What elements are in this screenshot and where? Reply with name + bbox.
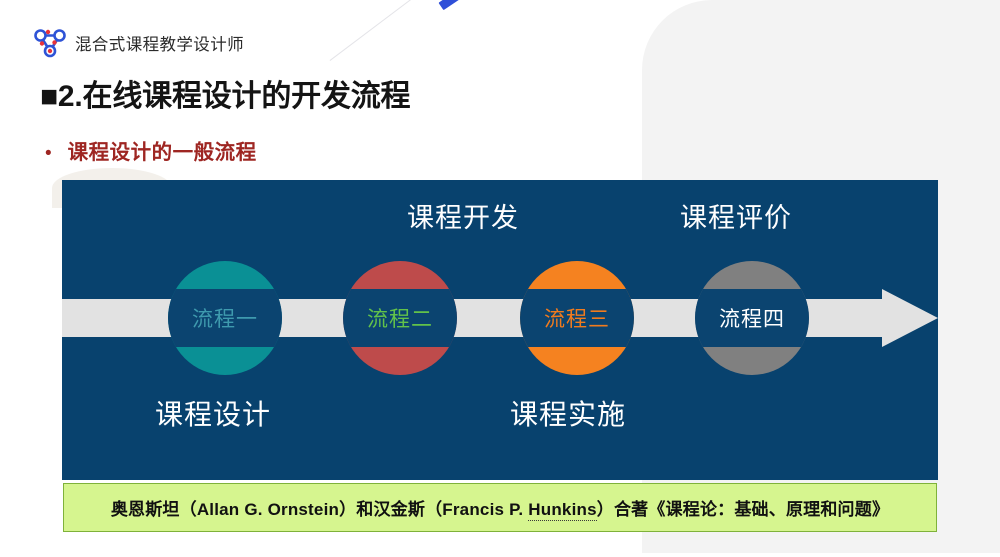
flow-node-circle[interactable]: 流程一 xyxy=(168,261,282,375)
subtitle-text: 课程设计的一般流程 xyxy=(68,135,257,165)
subtitle-bullet-line: • 课程设计的一般流程 xyxy=(45,135,257,165)
flow-node-circle[interactable]: 流程二 xyxy=(343,261,457,375)
citation-part-1: 奥恩斯坦（Allan G. Ornstein）和汉金斯（Francis P. xyxy=(111,500,528,519)
flow-node-label: 流程三 xyxy=(520,289,634,347)
diagram-bottom-label: 课程实施 xyxy=(510,393,626,433)
bullet-marker-icon: • xyxy=(45,144,52,163)
brand-name-label: 混合式课程教学设计师 xyxy=(75,31,244,55)
citation-part-2: ）合著《课程论：基础、原理和问题》 xyxy=(597,500,889,519)
citation-text: 奥恩斯坦（Allan G. Ornstein）和汉金斯（Francis P. H… xyxy=(111,495,889,520)
flow-node-label: 流程四 xyxy=(695,289,809,347)
page-title: ■2.在线课程设计的开发流程 xyxy=(40,71,410,115)
citation-box: 奥恩斯坦（Allan G. Ornstein）和汉金斯（Francis P. H… xyxy=(63,483,937,532)
diagram-top-label: 课程开发 xyxy=(407,196,519,235)
flow-node-circle[interactable]: 流程三 xyxy=(520,261,634,375)
background-blue-accent-dash xyxy=(438,0,486,10)
flow-node-label: 流程一 xyxy=(168,289,282,347)
flow-node-label: 流程二 xyxy=(343,289,457,347)
slide-canvas: 混合式课程教学设计师 ■2.在线课程设计的开发流程 • 课程设计的一般流程 课程… xyxy=(0,0,1000,557)
diagram-top-label: 课程评价 xyxy=(680,196,792,235)
bottom-white-strip xyxy=(0,553,1000,557)
brand-header: 混合式课程教学设计师 xyxy=(33,28,244,58)
citation-misspelled-word: Hunkins xyxy=(528,500,596,521)
background-diagonal-line xyxy=(330,0,507,61)
flow-node-circle[interactable]: 流程四 xyxy=(695,261,809,375)
molecule-network-icon xyxy=(33,28,67,58)
process-flow-diagram: 课程开发课程评价课程设计课程实施流程一流程二流程三流程四 xyxy=(62,180,938,480)
diagram-bottom-label: 课程设计 xyxy=(155,393,271,433)
